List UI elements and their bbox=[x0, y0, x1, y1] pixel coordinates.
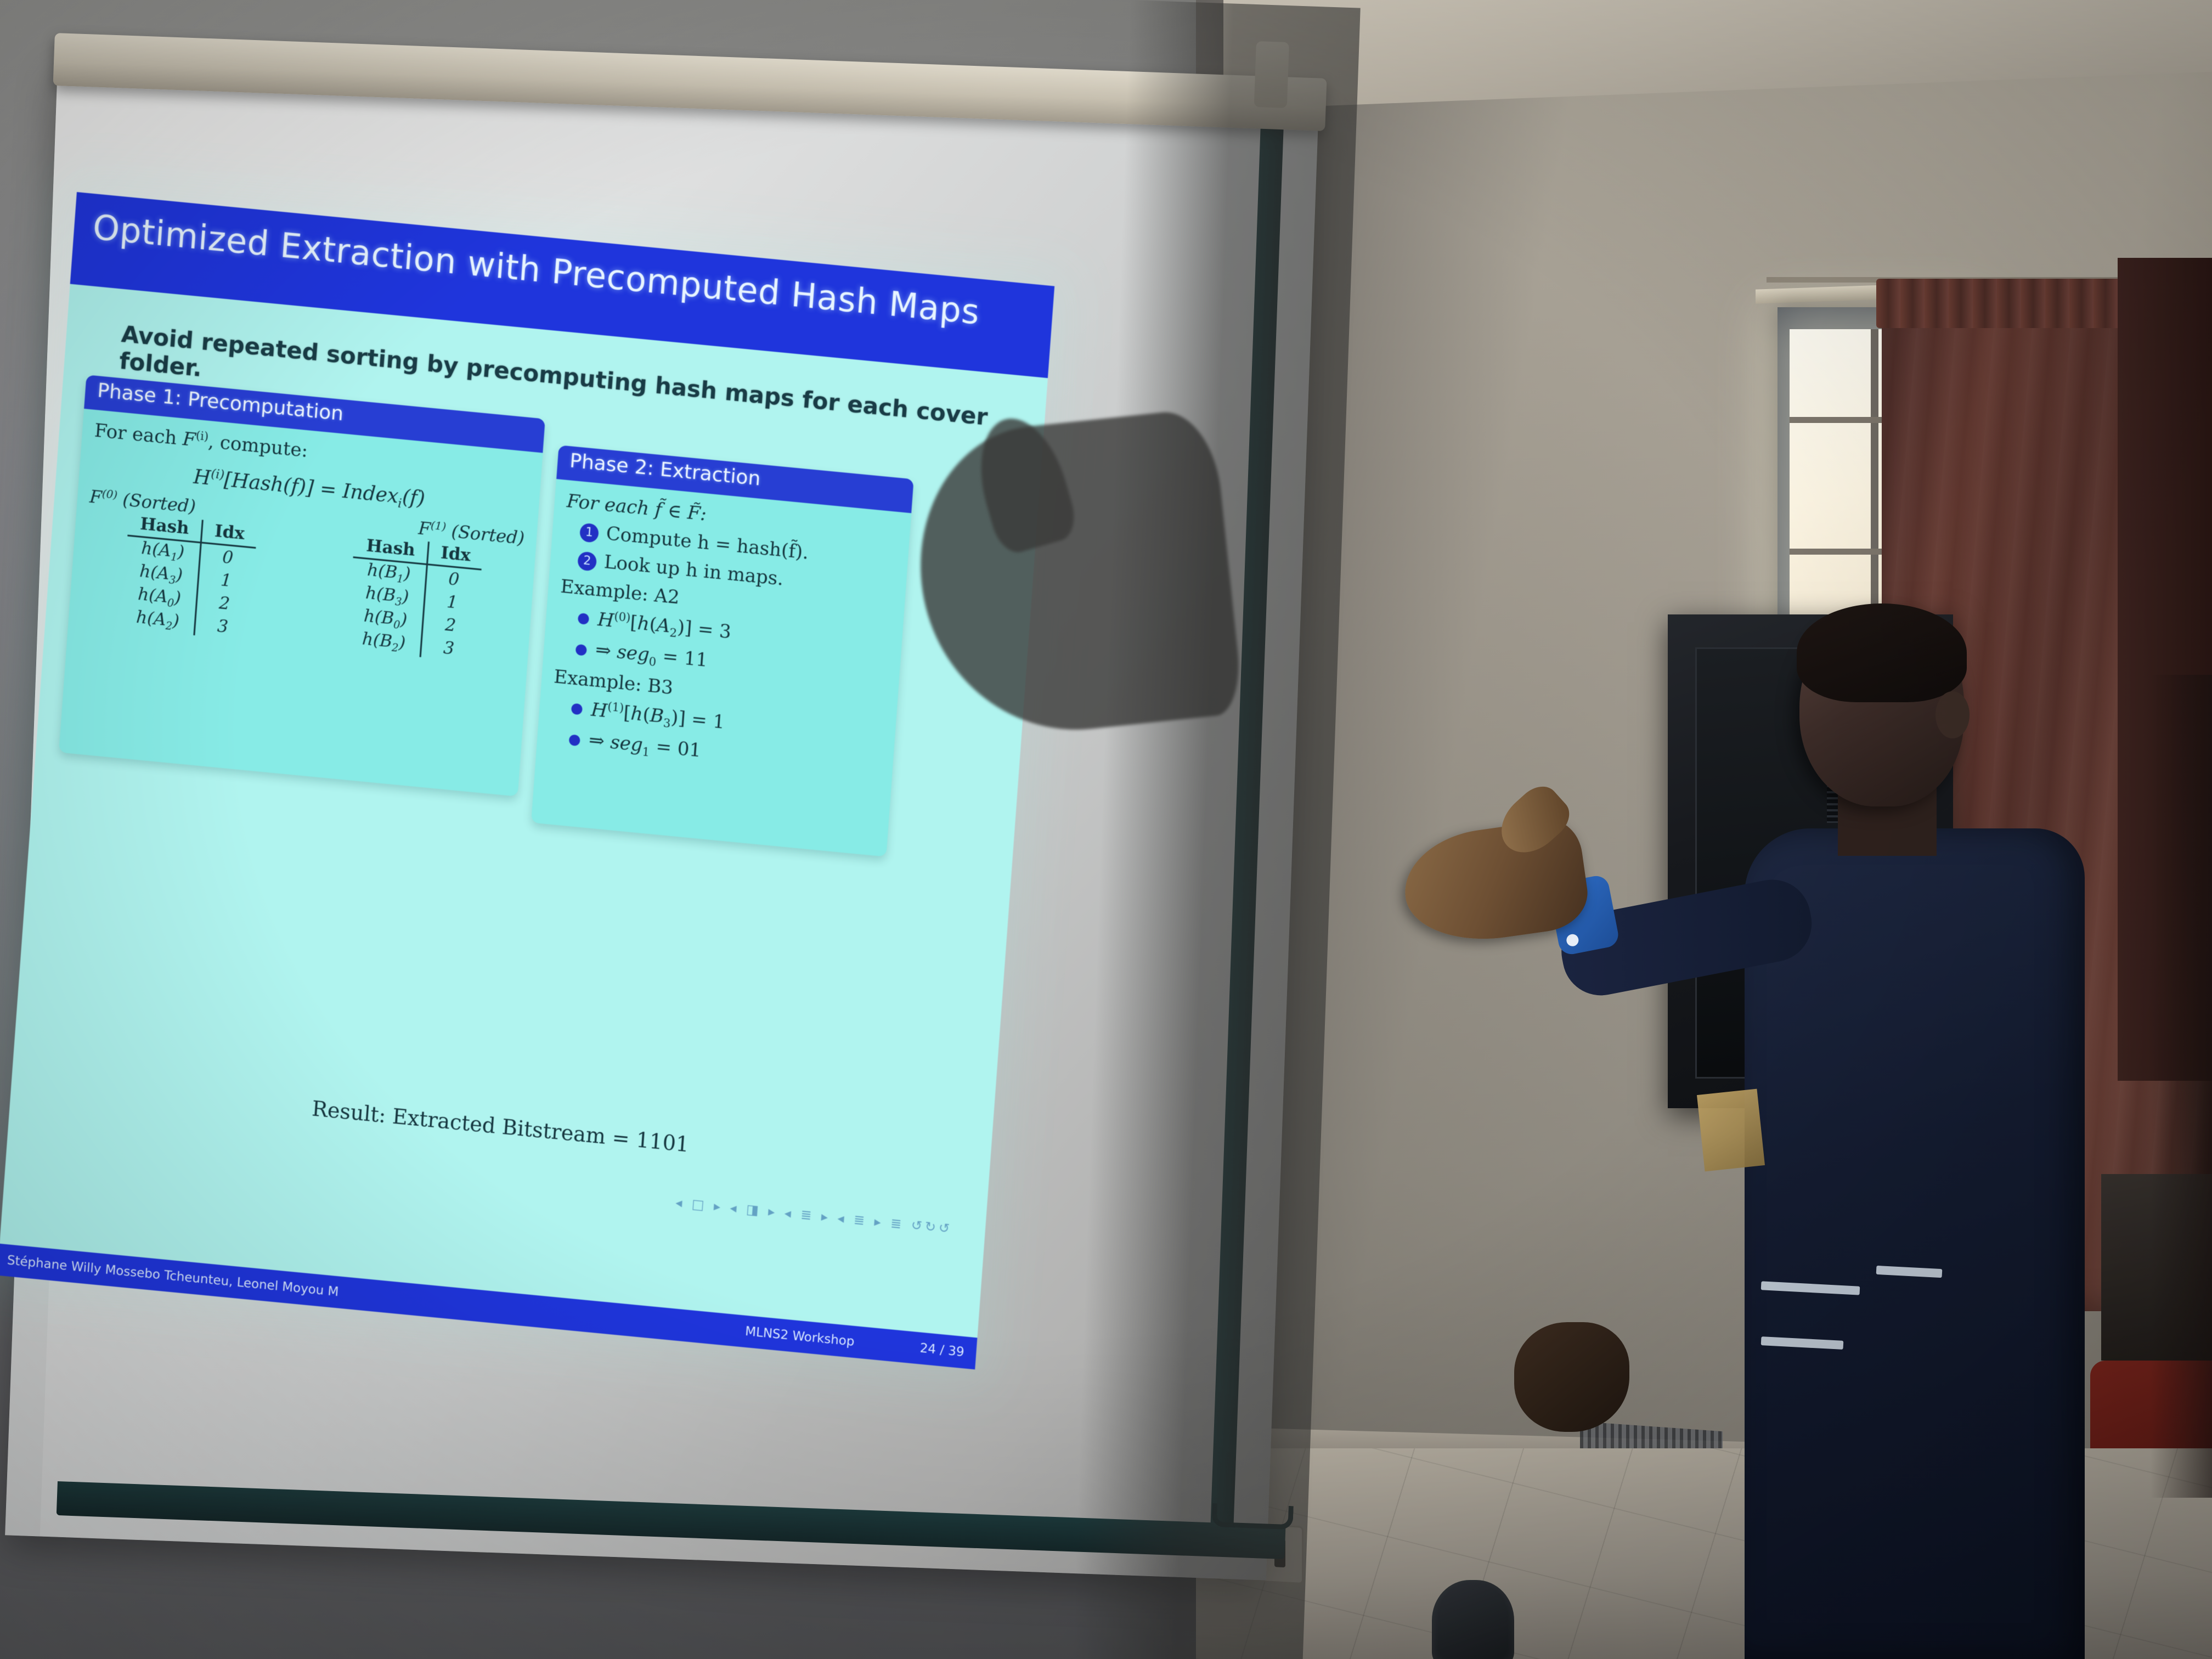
cuff-button bbox=[1565, 933, 1579, 947]
beamer-navigation-icons[interactable]: ◂ □ ▸ ◂ ◨ ▸ ◂ ≣ ▸ ◂ ≣ ▸ ≣ ↺↻↺ bbox=[675, 1195, 952, 1237]
phase1-intro-symbol: F bbox=[182, 428, 196, 451]
bullet-dot-icon bbox=[575, 644, 587, 656]
bullet-text: H(0)[h(A2)] = 3 bbox=[597, 607, 732, 645]
phase1-intro-post: , compute: bbox=[207, 430, 308, 461]
slide-surface: Optimized Extraction with Precomputed Ha… bbox=[0, 192, 1054, 1369]
phase1-intro-superscript: (i) bbox=[195, 428, 209, 443]
presenter-shadow-side bbox=[2151, 675, 2212, 1498]
bullet-text: H(1)[h(B3)] = 1 bbox=[590, 698, 726, 735]
phase1-intro-pre: For each bbox=[94, 419, 184, 449]
step-number-badge: 1 bbox=[579, 523, 599, 543]
cell-idx: 3 bbox=[194, 612, 251, 641]
cell-idx: 3 bbox=[420, 634, 477, 663]
caption-symbol: F bbox=[417, 517, 431, 539]
screen-roller-endcap bbox=[1254, 41, 1289, 108]
hashmap-table-right: Hash Idx h(B1) 0 bbox=[347, 534, 484, 663]
presenter-badge bbox=[1697, 1089, 1765, 1172]
hashmap-table-left: Hash Idx h(A1) 0 bbox=[120, 512, 257, 641]
hashmap-table-left-wrap: F(0) (Sorted) Hash Idx bbox=[80, 486, 299, 645]
caption-superscript: (0) bbox=[101, 487, 118, 501]
screen-pull-handle[interactable] bbox=[1211, 1503, 1293, 1530]
phase1-block: Phase 1: Precomputation For each F(i), c… bbox=[59, 375, 545, 797]
footer-page-number: 24 / 39 bbox=[919, 1341, 977, 1361]
projected-slide: Optimized Extraction with Precomputed Ha… bbox=[0, 192, 1054, 1369]
presenter-hair bbox=[1797, 603, 1967, 702]
presenter-ear bbox=[1936, 691, 1970, 738]
presenter-lower-hand bbox=[1514, 1322, 1629, 1432]
bullet-dot-icon bbox=[578, 613, 589, 625]
caption-symbol: F bbox=[89, 486, 103, 507]
photo-canvas: Optimized Extraction with Precomputed Ha… bbox=[0, 0, 2212, 1659]
floor-bag bbox=[1432, 1580, 1514, 1659]
result-line: Result: Extracted Bitstream = 1101 bbox=[11, 1068, 990, 1186]
phase1-body: For each F(i), compute: H(i)[Hash(f)] = … bbox=[67, 409, 543, 678]
bullet-text: ⇒ seg0 = 11 bbox=[595, 639, 709, 673]
bullet-dot-icon bbox=[571, 703, 583, 715]
bullet-dot-icon bbox=[569, 734, 580, 746]
caption-superscript: (1) bbox=[430, 518, 447, 533]
presenter bbox=[1580, 609, 2211, 1659]
phase2-block: Phase 2: Extraction For each f̃ ∈ F̃: 1 … bbox=[531, 445, 914, 856]
step-number-badge: 2 bbox=[577, 551, 597, 572]
bullet-text: ⇒ seg1 = 01 bbox=[588, 729, 702, 764]
hashmap-table-right-wrap: F(1) (Sorted) Hash Idx bbox=[306, 507, 525, 667]
phase2-body: For each f̃ ∈ F̃: 1 Compute h = hash(f̃)… bbox=[535, 479, 911, 799]
